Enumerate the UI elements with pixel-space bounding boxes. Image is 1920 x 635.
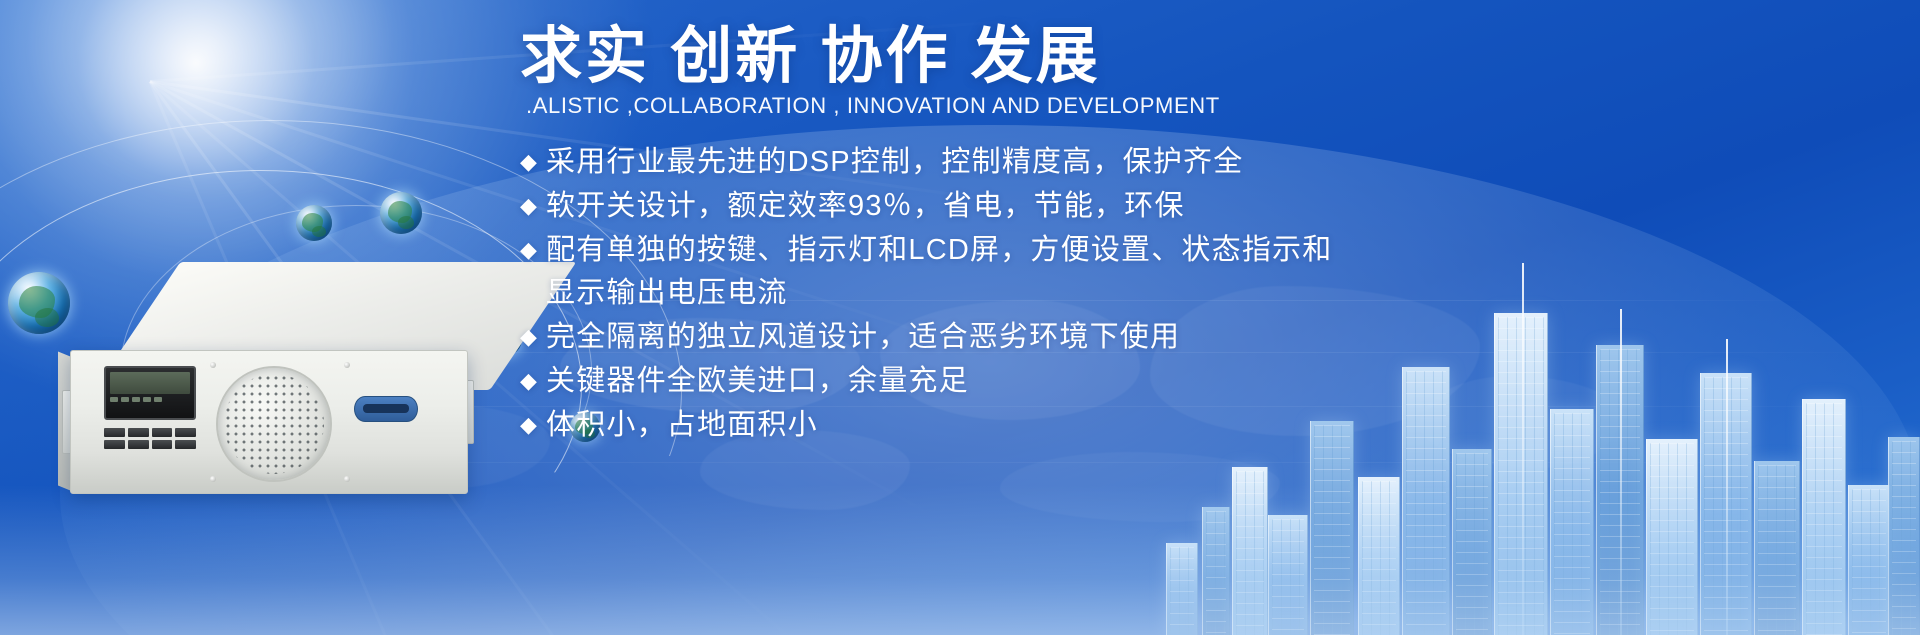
feature-item-label: 完全隔离的独立风道设计，适合恶劣环境下使用 [546,321,1180,353]
product-feature-banner: 求实 创新 协作 发展 .ALISTIC ,COLLABORATION , IN… [0,0,1920,635]
device-side-panel [58,352,74,492]
feature-item: ◆软开关设计，额定效率93％，省电，节能，环保 [520,184,1700,228]
device-lcd-display [104,366,196,420]
feature-item-label: 采用行业最先进的DSP控制，控制精度高，保护齐全 [546,146,1243,178]
lcd-indicator-row [110,397,190,402]
building-spire [1726,339,1728,635]
building [1452,449,1492,635]
device-screw [344,476,350,482]
feature-item: 显示输出电压电流 [520,272,1700,315]
light-ray-icon [149,81,503,635]
building [1268,515,1308,635]
earth-globe-icon [296,205,332,241]
building [1646,439,1698,635]
map-latitude-line [120,462,1900,463]
lcd-screen [110,372,190,394]
building [1848,485,1890,635]
building [1232,467,1268,635]
diamond-bullet-icon: ◆ [520,315,546,358]
earth-globe-icon [8,272,70,334]
device-rack-ear-left [62,390,86,454]
building [1754,461,1800,635]
earth-globe-icon [380,192,422,234]
feature-list: ◆采用行业最先进的DSP控制，控制精度高，保护齐全◆软开关设计，额定效率93％，… [520,140,1700,447]
diamond-bullet-icon: ◆ [520,184,546,227]
map-landmass [300,402,550,488]
device-screw [210,476,216,482]
device-screw [344,362,350,368]
building [1888,437,1920,635]
device-db9-port [354,396,418,422]
feature-item-label: 关键器件全欧美进口，余量充足 [546,365,969,397]
orbit-arc [0,170,582,602]
device-keypad [104,428,196,449]
feature-item: ◆完全隔离的独立风道设计，适合恶劣环境下使用 [520,315,1700,359]
diamond-bullet-icon: ◆ [520,228,546,271]
ground-haze [0,485,1920,635]
feature-item: ◆采用行业最先进的DSP控制，控制精度高，保护齐全 [520,140,1700,184]
building [1310,421,1354,635]
map-landmass [1000,452,1280,522]
feature-item-label: 显示输出电压电流 [546,277,788,309]
building [1166,543,1198,635]
feature-item: ◆体积小，占地面积小 [520,403,1700,447]
building [1700,373,1752,635]
diamond-bullet-icon: ◆ [520,403,546,446]
device-front-panel [70,350,468,494]
device-fan-grille [216,366,332,482]
banner-subheadline: .ALISTIC ,COLLABORATION , INNOVATION AND… [526,93,1640,119]
earth-globe-icon [488,322,522,356]
building [1202,507,1230,635]
feature-item-label: 体积小，占地面积小 [546,409,818,441]
device-rack-ear-right [450,380,474,444]
building [1358,477,1400,635]
banner-headline: 求实 创新 协作 发展 [520,22,1640,91]
device-screw [210,362,216,368]
feature-item: ◆配有单独的按键、指示灯和LCD屏，方便设置、状态指示和 [520,228,1700,272]
rack-mount-power-supply-image [58,262,490,520]
building [1802,399,1846,635]
diamond-bullet-icon: ◆ [520,359,546,402]
diamond-bullet-icon: ◆ [520,140,546,183]
feature-item: ◆关键器件全欧美进口，余量充足 [520,359,1700,403]
feature-item-label: 配有单独的按键、指示灯和LCD屏，方便设置、状态指示和 [546,234,1332,266]
feature-item-label: 软开关设计，额定效率93％，省电，节能，环保 [546,190,1185,222]
headline-block: 求实 创新 协作 发展 .ALISTIC ,COLLABORATION , IN… [520,22,1640,119]
